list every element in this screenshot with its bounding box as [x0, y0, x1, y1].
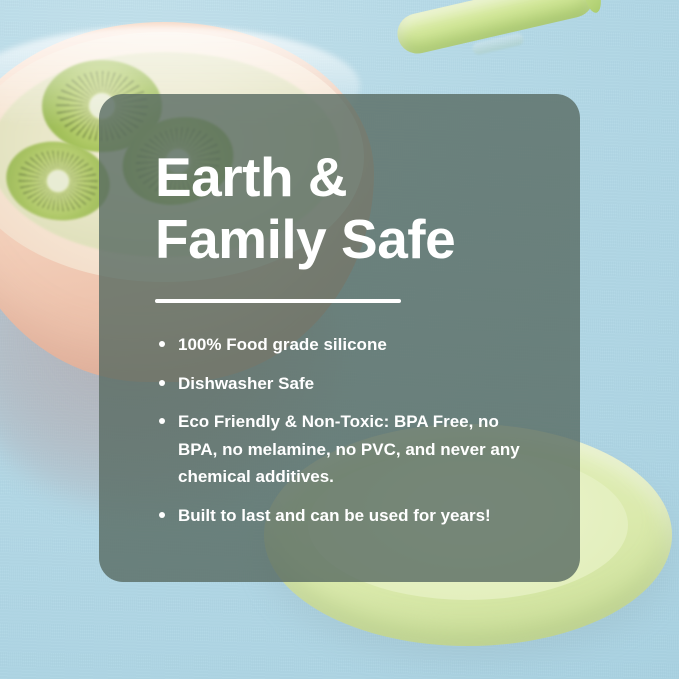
feature-list: 100% Food grade silicone Dishwasher Safe…	[155, 331, 536, 529]
card-heading: Earth & Family Safe	[155, 146, 536, 270]
list-item: Eco Friendly & Non-Toxic: BPA Free, no B…	[155, 408, 536, 491]
product-feature-image: Earth & Family Safe 100% Food grade sili…	[0, 0, 679, 679]
info-card: Earth & Family Safe 100% Food grade sili…	[99, 94, 580, 582]
heading-divider	[155, 299, 401, 303]
list-item: 100% Food grade silicone	[155, 331, 536, 359]
list-item: Dishwasher Safe	[155, 370, 536, 398]
list-item: Built to last and can be used for years!	[155, 502, 536, 530]
